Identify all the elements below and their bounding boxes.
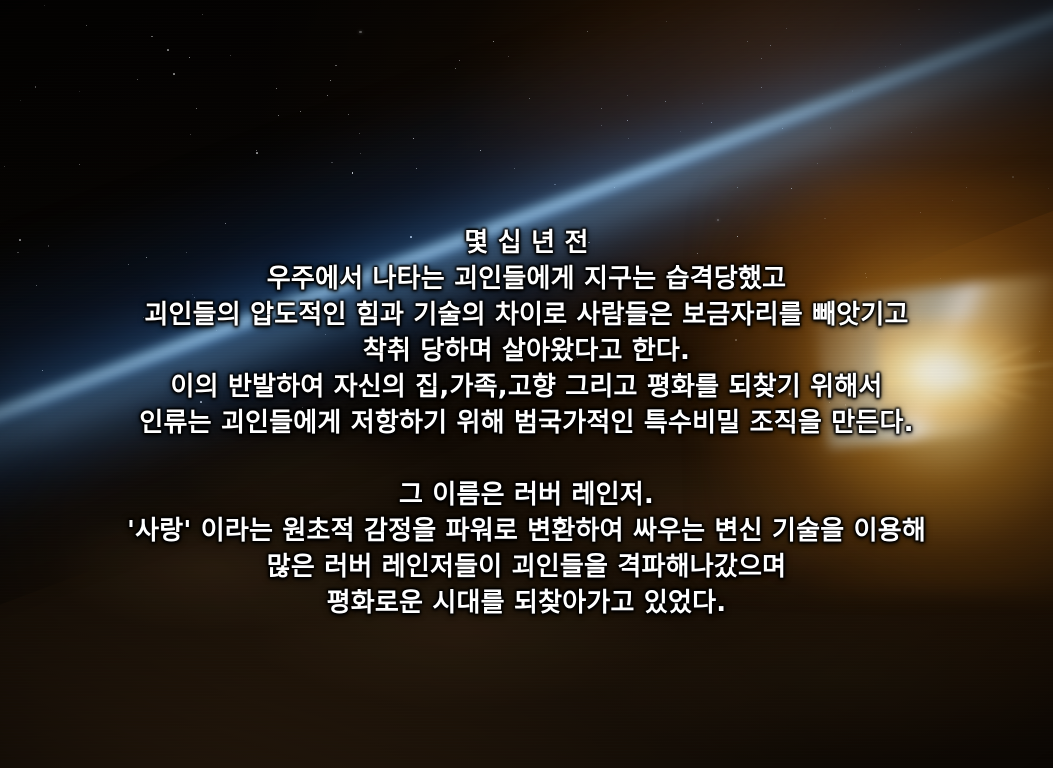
narration-line: 우주에서 나타는 괴인들에게 지구는 습격당했고 — [0, 261, 1053, 297]
star — [508, 56, 509, 57]
star — [256, 152, 258, 154]
star — [666, 21, 667, 22]
star — [885, 66, 886, 67]
star — [173, 73, 175, 75]
star — [786, 28, 787, 29]
star — [627, 95, 628, 96]
star — [330, 80, 331, 81]
star — [680, 131, 681, 132]
star — [514, 168, 515, 169]
star — [86, 25, 87, 26]
star — [627, 120, 628, 121]
star — [35, 86, 37, 88]
star — [830, 127, 832, 129]
star — [916, 127, 917, 128]
star — [190, 134, 191, 135]
star — [614, 187, 615, 188]
star — [44, 5, 45, 6]
star — [782, 128, 783, 129]
narration-line: 몇 십 년 전 — [0, 225, 1053, 261]
star — [770, 45, 771, 46]
star — [230, 55, 231, 56]
star — [151, 36, 153, 38]
narration-line: 이의 반발하여 자신의 집,가족,고향 그리고 평화를 되찾기 위해서 — [0, 369, 1053, 405]
narration-line-spacer — [0, 441, 1053, 477]
star — [189, 57, 190, 58]
star — [359, 133, 360, 134]
star — [276, 88, 277, 89]
star — [455, 68, 456, 69]
star — [911, 132, 912, 133]
star — [335, 65, 337, 67]
star — [761, 58, 762, 59]
star — [256, 150, 257, 151]
star — [702, 103, 703, 104]
star — [554, 184, 556, 186]
star — [79, 164, 80, 165]
star — [493, 41, 494, 42]
star — [879, 67, 880, 68]
star — [327, 95, 329, 97]
star — [459, 60, 460, 61]
narration-line: 평화로운 시대를 되찾아가고 있었다. — [0, 585, 1053, 621]
star — [587, 31, 588, 32]
narration-line: 그 이름은 러버 레인저. — [0, 477, 1053, 513]
star — [529, 98, 530, 99]
star — [900, 44, 901, 45]
star — [202, 14, 203, 15]
star — [601, 108, 602, 109]
star — [167, 49, 169, 51]
star — [360, 153, 361, 154]
star — [761, 87, 762, 88]
star — [628, 138, 629, 139]
star — [352, 172, 354, 174]
star — [4, 166, 5, 167]
star — [747, 41, 748, 42]
star — [278, 115, 279, 116]
narration-line: 착취 당하며 살아왔다고 한다. — [0, 333, 1053, 369]
narration-line: 많은 러버 레인저들이 괴인들을 격파해나갔으며 — [0, 549, 1053, 585]
star — [196, 108, 197, 109]
star — [711, 122, 712, 123]
star — [79, 91, 81, 93]
star — [331, 162, 333, 164]
narration-line: 괴인들의 압도적인 힘과 기술의 차이로 사람들은 보금자리를 빼앗기고 — [0, 297, 1053, 333]
star — [416, 168, 418, 170]
narration-line: '사랑' 이라는 원초적 감정을 파워로 변환하여 싸우는 변신 기술을 이용해 — [0, 513, 1053, 549]
star — [852, 90, 854, 92]
star — [137, 79, 138, 80]
star — [20, 100, 21, 101]
star — [918, 9, 920, 11]
star — [300, 111, 301, 112]
star — [359, 31, 361, 33]
narration-text-block: 몇 십 년 전우주에서 나타는 괴인들에게 지구는 습격당했고괴인들의 압도적인… — [0, 225, 1053, 621]
star — [665, 101, 666, 102]
star — [480, 150, 481, 151]
star — [413, 138, 414, 139]
star — [817, 163, 818, 164]
narration-line: 인류는 괴인들에게 저항하기 위해 범국가적인 특수비밀 조직을 만든다. — [0, 405, 1053, 441]
star — [601, 125, 602, 126]
intro-cutscene-scene: 몇 십 년 전우주에서 나타는 괴인들에게 지구는 습격당했고괴인들의 압도적인… — [0, 0, 1053, 768]
star — [348, 114, 349, 115]
star — [959, 32, 960, 33]
